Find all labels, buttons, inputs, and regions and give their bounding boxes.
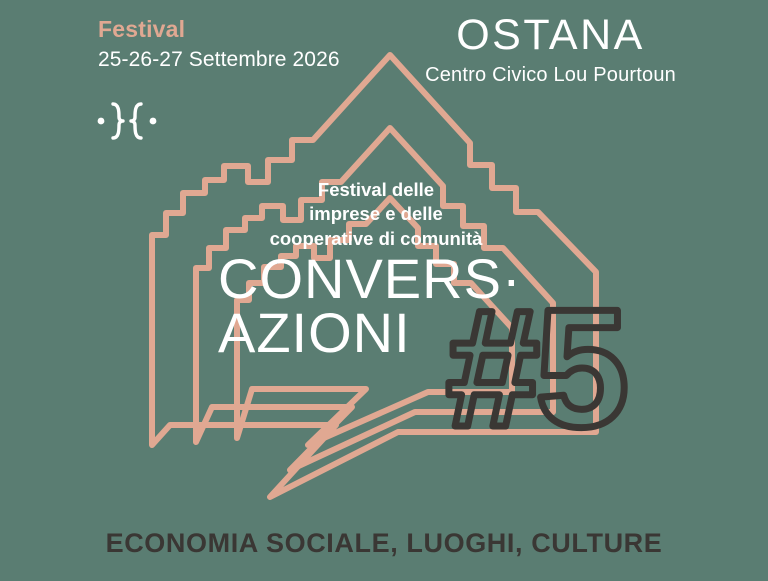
venue-name: Centro Civico Lou Pourtoun <box>425 65 676 85</box>
venue-block: OSTANA Centro Civico Lou Pourtoun <box>425 14 676 85</box>
edition-number-hash-five: #5 <box>440 276 660 456</box>
festival-info-block: Festival 25-26-27 Settembre 2026 <box>98 18 340 70</box>
edition-number-text: #5 <box>446 276 625 456</box>
festival-dates: 25-26-27 Settembre 2026 <box>98 49 340 70</box>
brace-logo-icon <box>95 99 159 143</box>
festival-label: Festival <box>98 18 340 41</box>
subtitle-line-1: Festival delle <box>196 178 556 202</box>
festival-subtitle: Festival delle imprese e delle cooperati… <box>196 178 556 251</box>
subtitle-line-2: imprese e delle <box>196 202 556 226</box>
footer-tagline: ECONOMIA SOCIALE, LUOGHI, CULTURE <box>0 528 768 559</box>
poster-canvas: Festival 25-26-27 Settembre 2026 OSTANA … <box>0 0 768 581</box>
location-name: OSTANA <box>425 14 676 57</box>
